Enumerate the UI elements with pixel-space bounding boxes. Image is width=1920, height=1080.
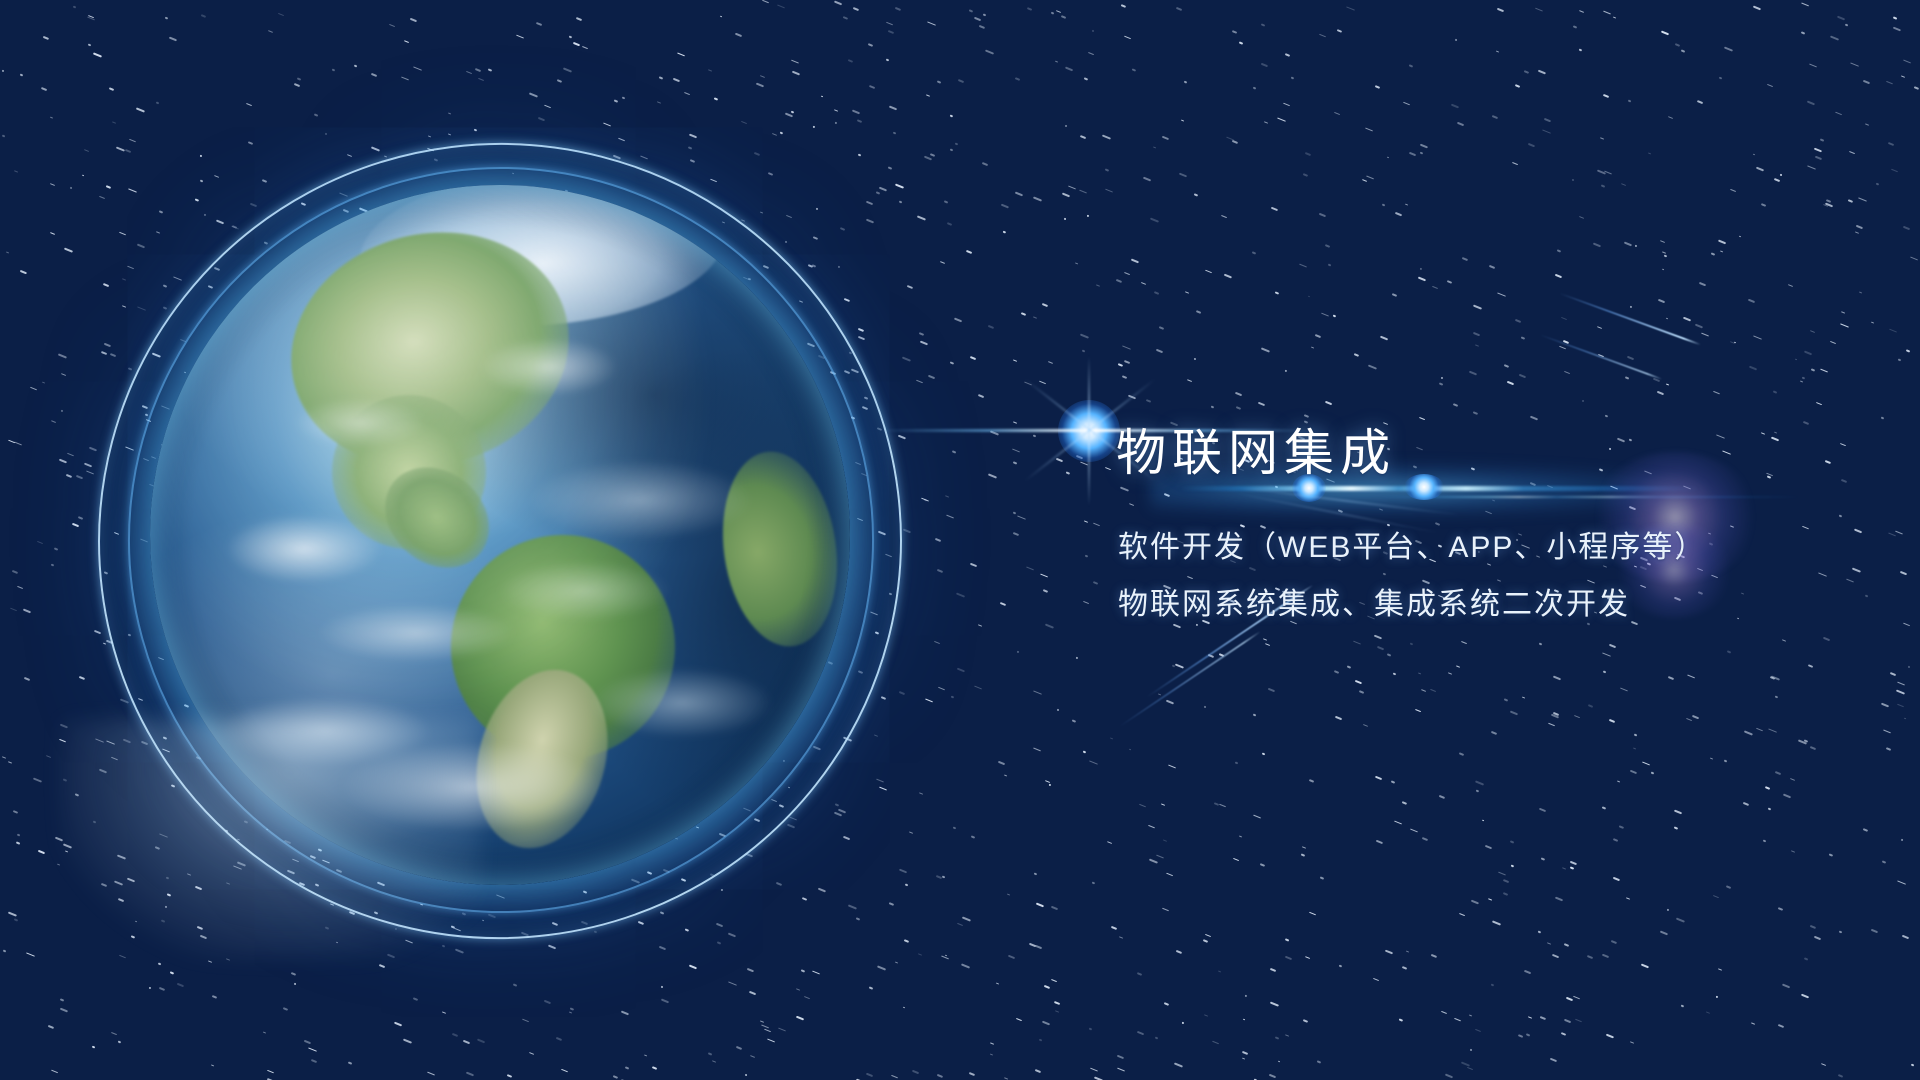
- light-streak-fan-a: [1233, 486, 1462, 516]
- lens-flare-core: [1058, 400, 1120, 462]
- service-line-software-development: 软件开发（WEB平台、APP、小程序等）: [1118, 533, 1706, 563]
- earth-globe: [150, 185, 850, 885]
- page-title: 物联网集成: [1116, 428, 1396, 478]
- light-streak-fan-b: [1234, 492, 1441, 534]
- meteor-streak-4: [1119, 631, 1261, 728]
- lens-flare-vertical-streak: [1088, 356, 1090, 506]
- hero-banner: 物联网集成 软件开发（WEB平台、APP、小程序等） 物联网系统集成、集成系统二…: [0, 0, 1920, 1080]
- globe-sphere: [150, 185, 850, 885]
- meteor-streak-1: [1559, 292, 1701, 345]
- service-line-iot-integration: 物联网系统集成、集成系统二次开发: [1118, 590, 1630, 620]
- globe-limb-highlight: [150, 185, 850, 885]
- light-streak-bar-thin: [1380, 496, 1800, 498]
- light-streak-bar: [1180, 486, 1700, 491]
- light-streak-node-right: [1404, 474, 1444, 500]
- meteor-streak-2: [1540, 334, 1663, 380]
